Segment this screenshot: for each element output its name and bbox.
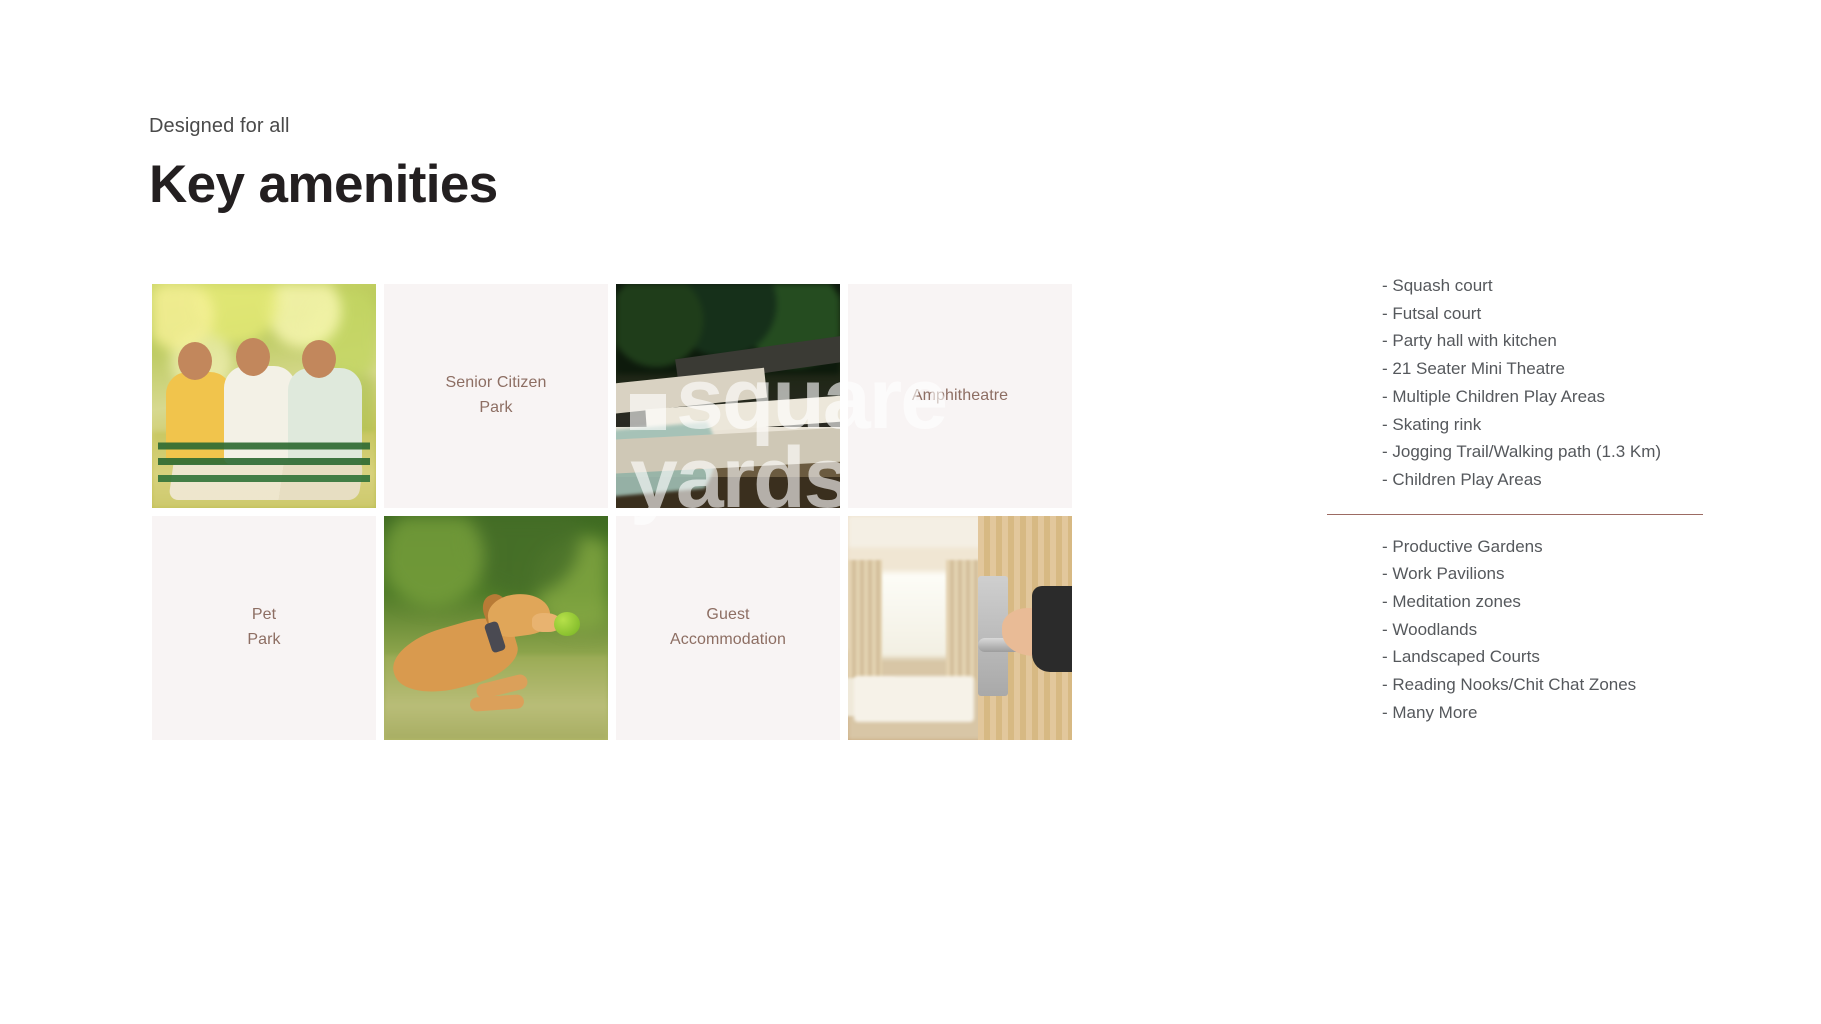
- list-item: - Skating rink: [1327, 411, 1707, 439]
- tile-senior-citizens-on-bench[interactable]: [152, 284, 376, 508]
- list-item: - Children Play Areas: [1327, 466, 1707, 494]
- tile-label-amphitheatre: Amphitheatre: [902, 384, 1018, 409]
- tile-label-guest-accommodation: GuestAccommodation: [660, 603, 796, 653]
- list-item: - Meditation zones: [1327, 588, 1707, 616]
- tile-guest-accommodation[interactable]: GuestAccommodation: [616, 516, 840, 740]
- list-item: - 21 Seater Mini Theatre: [1327, 355, 1707, 383]
- tile-label-pet-park: PetPark: [237, 603, 290, 653]
- list-item: - Landscaped Courts: [1327, 643, 1707, 671]
- page-eyebrow: Designed for all: [149, 112, 498, 140]
- tile-label-senior-citizen-park: Senior CitizenPark: [435, 371, 556, 421]
- tile-hotel-room-door[interactable]: [848, 516, 1072, 740]
- list-item: - Woodlands: [1327, 616, 1707, 644]
- tile-dog-catching-ball[interactable]: [384, 516, 608, 740]
- amphitheatre-photo: [616, 284, 840, 508]
- list-item: - Reading Nooks/Chit Chat Zones: [1327, 671, 1707, 699]
- amenities-tile-grid: Senior CitizenPark Amphitheatre PetPark: [152, 284, 1072, 740]
- dog-photo: [384, 516, 608, 740]
- amenities-page: Designed for all Key amenities Senior Ci…: [0, 0, 1821, 1024]
- amenities-divider: [1327, 514, 1703, 515]
- list-item: - Futsal court: [1327, 300, 1707, 328]
- tile-senior-citizen-park[interactable]: Senior CitizenPark: [384, 284, 608, 508]
- amenities-list-column: - Squash court - Futsal court - Party ha…: [1327, 272, 1707, 727]
- list-item: - Squash court: [1327, 272, 1707, 300]
- list-item: - Many More: [1327, 699, 1707, 727]
- list-item: - Work Pavilions: [1327, 560, 1707, 588]
- senior-citizens-photo: [152, 284, 376, 508]
- tile-amphitheatre-photo[interactable]: [616, 284, 840, 508]
- list-item: - Jogging Trail/Walking path (1.3 Km): [1327, 438, 1707, 466]
- list-item: - Multiple Children Play Areas: [1327, 383, 1707, 411]
- hotel-door-photo: [848, 516, 1072, 740]
- tile-pet-park[interactable]: PetPark: [152, 516, 376, 740]
- page-header: Designed for all Key amenities: [149, 112, 498, 213]
- list-item: - Productive Gardens: [1327, 533, 1707, 561]
- amenities-list-primary: - Squash court - Futsal court - Party ha…: [1327, 272, 1707, 494]
- list-item: - Party hall with kitchen: [1327, 327, 1707, 355]
- page-title: Key amenities: [149, 156, 498, 213]
- amenities-list-secondary: - Productive Gardens - Work Pavilions - …: [1327, 533, 1707, 727]
- tile-amphitheatre[interactable]: Amphitheatre: [848, 284, 1072, 508]
